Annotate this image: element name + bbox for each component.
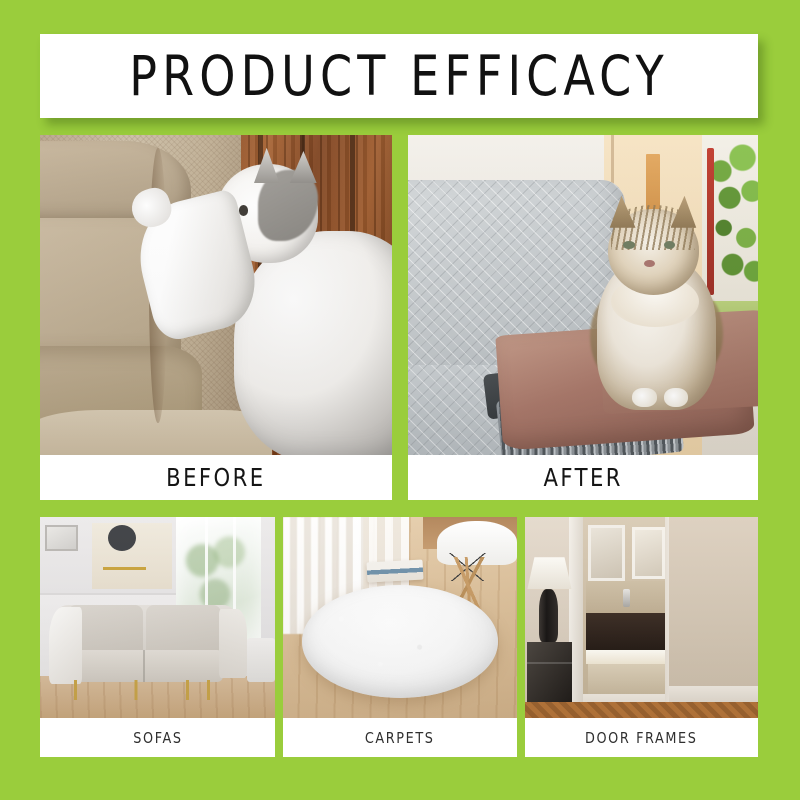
after-caption: AFTER	[408, 455, 758, 500]
before-caption: BEFORE	[40, 455, 392, 500]
application-card-door-frames: DOOR FRAMES	[525, 517, 758, 757]
after-label: AFTER	[543, 463, 622, 492]
carpets-caption: CARPETS	[283, 718, 517, 757]
application-card-sofas: SOFAS	[40, 517, 275, 757]
door-frames-caption: DOOR FRAMES	[525, 718, 758, 757]
application-card-carpets: CARPETS	[283, 517, 517, 757]
door-frames-label: DOOR FRAMES	[585, 729, 698, 747]
page-title: PRODUCT EFFICACY	[129, 44, 668, 108]
sofas-label: SOFAS	[133, 729, 182, 747]
page-title-banner: PRODUCT EFFICACY	[40, 34, 758, 118]
comparison-card-before: BEFORE	[40, 135, 392, 500]
sofas-photo	[40, 517, 275, 718]
door-frames-photo	[525, 517, 758, 718]
before-label: BEFORE	[166, 463, 265, 492]
before-photo	[40, 135, 392, 455]
comparison-card-after: AFTER	[408, 135, 758, 500]
after-photo	[408, 135, 758, 455]
sofas-caption: SOFAS	[40, 718, 275, 757]
carpets-label: CARPETS	[365, 729, 435, 747]
carpets-photo	[283, 517, 517, 718]
